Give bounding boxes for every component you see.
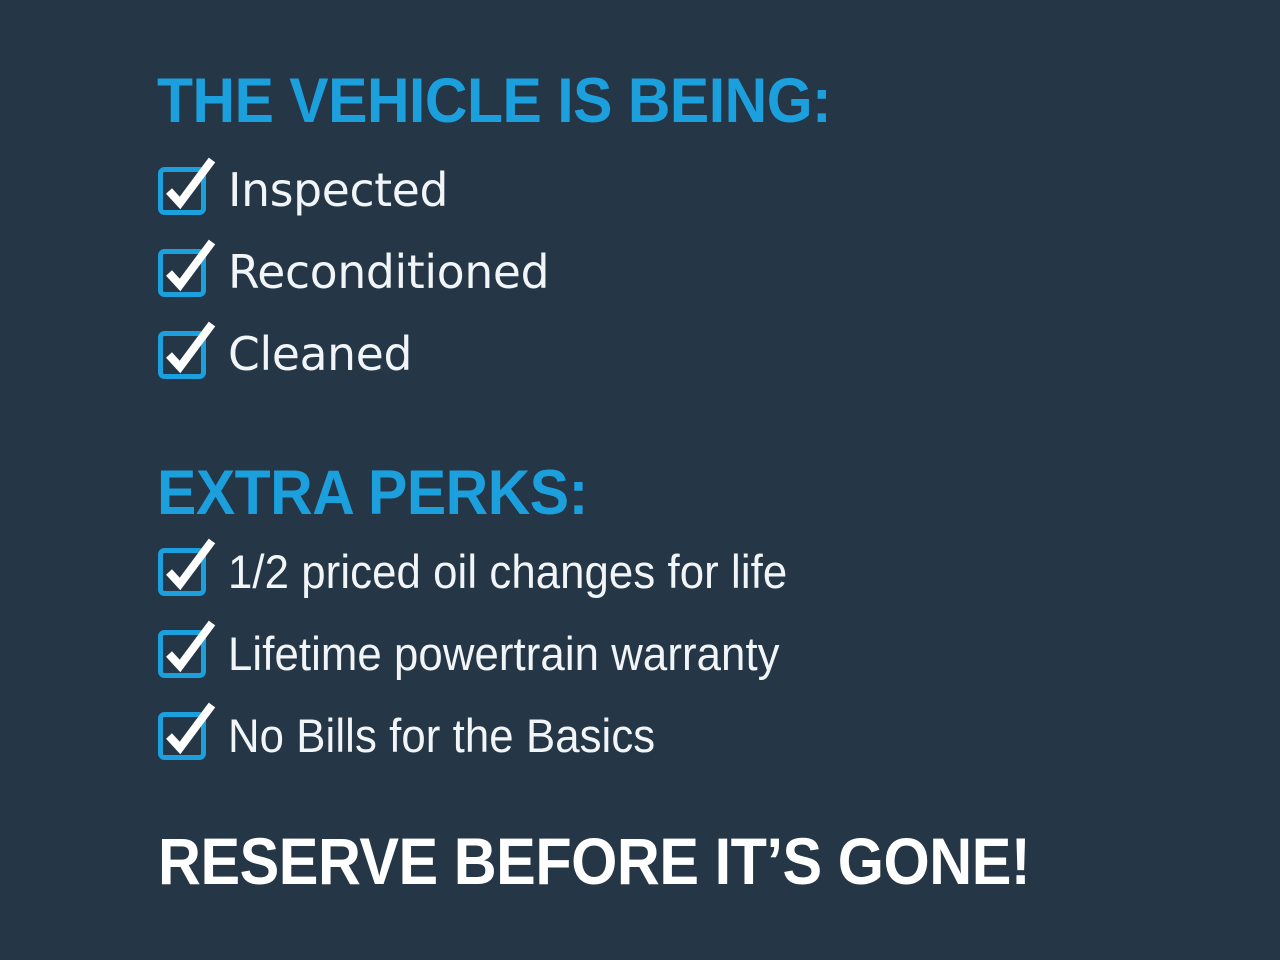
perks-checklist: 1/2 priced oil changes for life Lifetime… xyxy=(160,546,829,760)
list-item: Cleaned xyxy=(160,329,552,379)
list-item: Inspected xyxy=(160,165,552,215)
list-item: 1/2 priced oil changes for life xyxy=(160,546,829,596)
checked-checkbox-icon xyxy=(160,167,206,213)
list-item: No Bills for the Basics xyxy=(160,710,829,760)
vehicle-section-heading: THE VEHICLE IS BEING: xyxy=(157,70,831,133)
promo-slide: THE VEHICLE IS BEING: Inspected Recondit… xyxy=(0,0,1280,960)
list-item: Lifetime powertrain warranty xyxy=(160,628,829,678)
list-item-label: Lifetime powertrain warranty xyxy=(228,630,780,677)
perks-section-heading: EXTRA PERKS: xyxy=(157,462,588,525)
list-item-label: No Bills for the Basics xyxy=(228,712,655,759)
list-item-label: 1/2 priced oil changes for life xyxy=(228,548,787,595)
checked-checkbox-icon xyxy=(160,630,206,676)
checked-checkbox-icon xyxy=(160,331,206,377)
checked-checkbox-icon xyxy=(160,712,206,758)
list-item: Reconditioned xyxy=(160,247,552,297)
vehicle-checklist: Inspected Reconditioned Cleaned xyxy=(160,165,552,379)
checked-checkbox-icon xyxy=(160,249,206,295)
list-item-label: Inspected xyxy=(228,167,448,213)
checked-checkbox-icon xyxy=(160,548,206,594)
list-item-label: Cleaned xyxy=(228,331,412,377)
list-item-label: Reconditioned xyxy=(228,249,549,295)
cta-headline: RESERVE BEFORE IT’S GONE! xyxy=(158,828,1030,894)
